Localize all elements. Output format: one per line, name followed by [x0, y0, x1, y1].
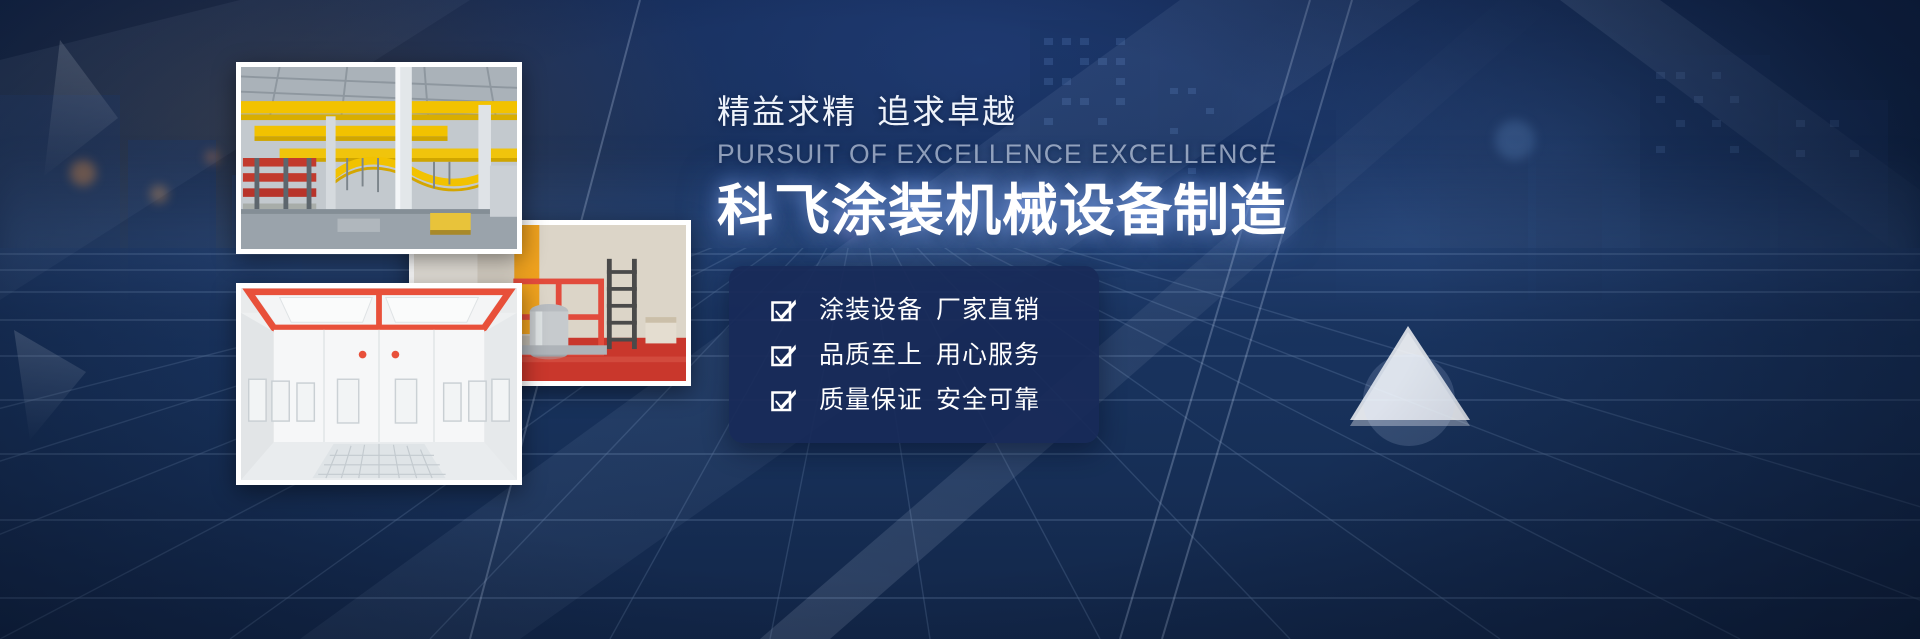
feature-label-left: 品质至上 — [819, 341, 923, 369]
slogan-english: PURSUIT OF EXCELLENCE EXCELLENCE — [717, 139, 1357, 170]
feature-label-right: 安全可靠 — [936, 386, 1040, 414]
slogan-chinese: 精益求精追求卓越 — [717, 92, 1357, 132]
feature-row: 品质至上用心服务 — [771, 333, 1099, 378]
feature-label: 质量保证安全可靠 — [819, 388, 1040, 413]
hero-banner: 精益求精追求卓越 PURSUIT OF EXCELLENCE EXCELLENC… — [0, 0, 1920, 639]
checkbox-checked-icon — [771, 388, 797, 414]
checkbox-checked-icon — [771, 298, 797, 324]
bokeh-light-warm-3 — [205, 150, 219, 164]
bokeh-light-warm-1 — [70, 160, 96, 186]
bokeh-light-warm-2 — [150, 185, 168, 203]
checkbox-checked-icon — [771, 343, 797, 369]
headline-text-block: 精益求精追求卓越 PURSUIT OF EXCELLENCE EXCELLENC… — [717, 92, 1357, 241]
feature-label-right: 用心服务 — [936, 341, 1040, 369]
feature-label-left: 质量保证 — [819, 386, 923, 414]
page-title: 科飞涂装机械设备制造 — [717, 181, 1357, 241]
slogan-chinese-part-a: 精益求精 — [717, 93, 857, 130]
feature-label-right: 厂家直销 — [936, 296, 1040, 324]
feature-label-left: 涂装设备 — [819, 296, 923, 324]
feature-label: 涂装设备厂家直销 — [819, 298, 1040, 323]
features-panel: 涂装设备厂家直销 品质至上用心服务 质量保证安全可靠 — [729, 266, 1099, 443]
feature-label: 品质至上用心服务 — [819, 343, 1040, 368]
photo-factory-conveyor — [236, 62, 522, 254]
photo-spray-booth — [236, 283, 522, 485]
slogan-chinese-part-b: 追求卓越 — [877, 93, 1017, 130]
feature-row: 质量保证安全可靠 — [771, 378, 1099, 423]
bokeh-light-cool-3 — [1495, 120, 1535, 160]
feature-row: 涂装设备厂家直销 — [771, 288, 1099, 333]
